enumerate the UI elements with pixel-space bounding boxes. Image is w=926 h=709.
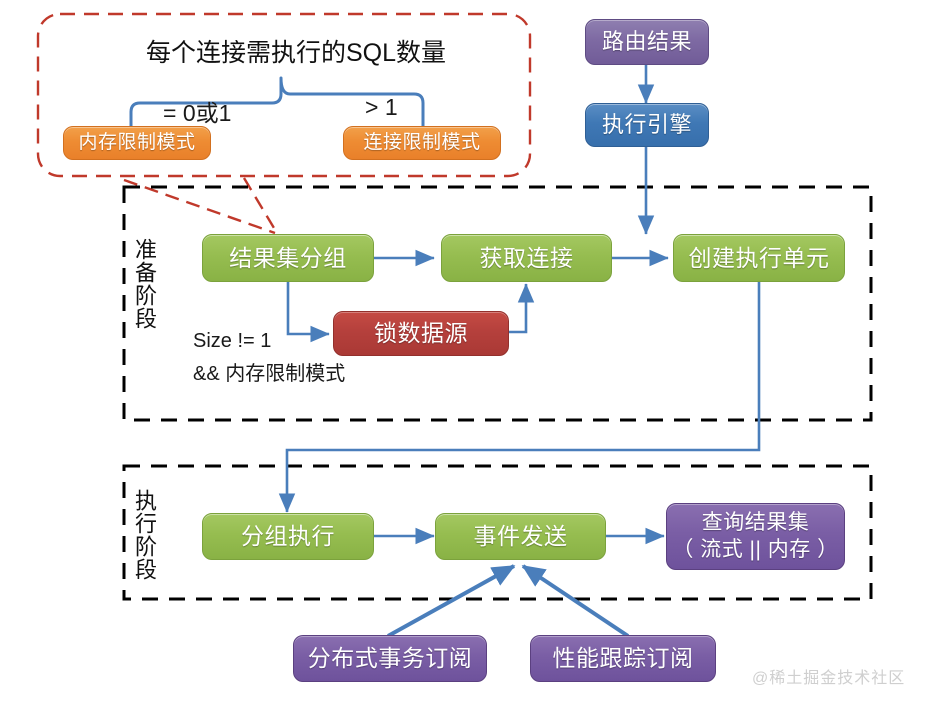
- node-memory-limit-mode[interactable]: 内存限制模式: [63, 126, 211, 160]
- node-result-set-grouping[interactable]: 结果集分组: [202, 234, 374, 282]
- watermark: @稀土掘金技术社区: [752, 664, 905, 688]
- branch-label-left: = 0或1: [163, 94, 231, 128]
- execute-phase-label: 执行阶段: [133, 489, 155, 581]
- node-route-result[interactable]: 路由结果: [585, 19, 709, 65]
- condition-text-line2: && 内存限制模式: [193, 357, 345, 386]
- node-connection-limit-mode[interactable]: 连接限制模式: [343, 126, 501, 160]
- node-performance-trace-subscription[interactable]: 性能跟踪订阅: [530, 635, 716, 682]
- prepare-phase-label: 准备阶段: [133, 238, 155, 330]
- condition-text-line1: Size != 1: [193, 330, 271, 353]
- node-grouped-execution[interactable]: 分组执行: [202, 513, 374, 560]
- node-distributed-transaction-subscription[interactable]: 分布式事务订阅: [293, 635, 487, 682]
- node-query-result-set[interactable]: 查询结果集 （ 流式 || 内存 ）: [666, 503, 845, 570]
- node-lock-datasource[interactable]: 锁数据源: [333, 311, 509, 356]
- query-result-set-line-2: （ 流式 || 内存 ）: [672, 538, 838, 562]
- node-create-execution-unit[interactable]: 创建执行单元: [673, 234, 845, 282]
- arrow-txn-subscription-to-event: [388, 566, 514, 636]
- callout-heading: 每个连接需执行的SQL数量: [146, 33, 446, 69]
- branch-label-right: > 1: [365, 94, 398, 121]
- callout-leader-left: [124, 180, 275, 233]
- arrow-perf-subscription-to-event: [523, 566, 628, 636]
- arrow-grouping-to-lock: [288, 282, 329, 334]
- arrow-lock-to-connection: [509, 284, 526, 332]
- query-result-set-line-1: 查询结果集: [702, 511, 810, 535]
- node-acquire-connection[interactable]: 获取连接: [441, 234, 612, 282]
- node-execution-engine[interactable]: 执行引擎: [585, 103, 709, 147]
- diagram-canvas: 每个连接需执行的SQL数量 = 0或1 > 1 内存限制模式 连接限制模式 路由…: [0, 0, 926, 709]
- node-event-dispatch[interactable]: 事件发送: [435, 513, 606, 560]
- callout-leader-right: [244, 178, 277, 233]
